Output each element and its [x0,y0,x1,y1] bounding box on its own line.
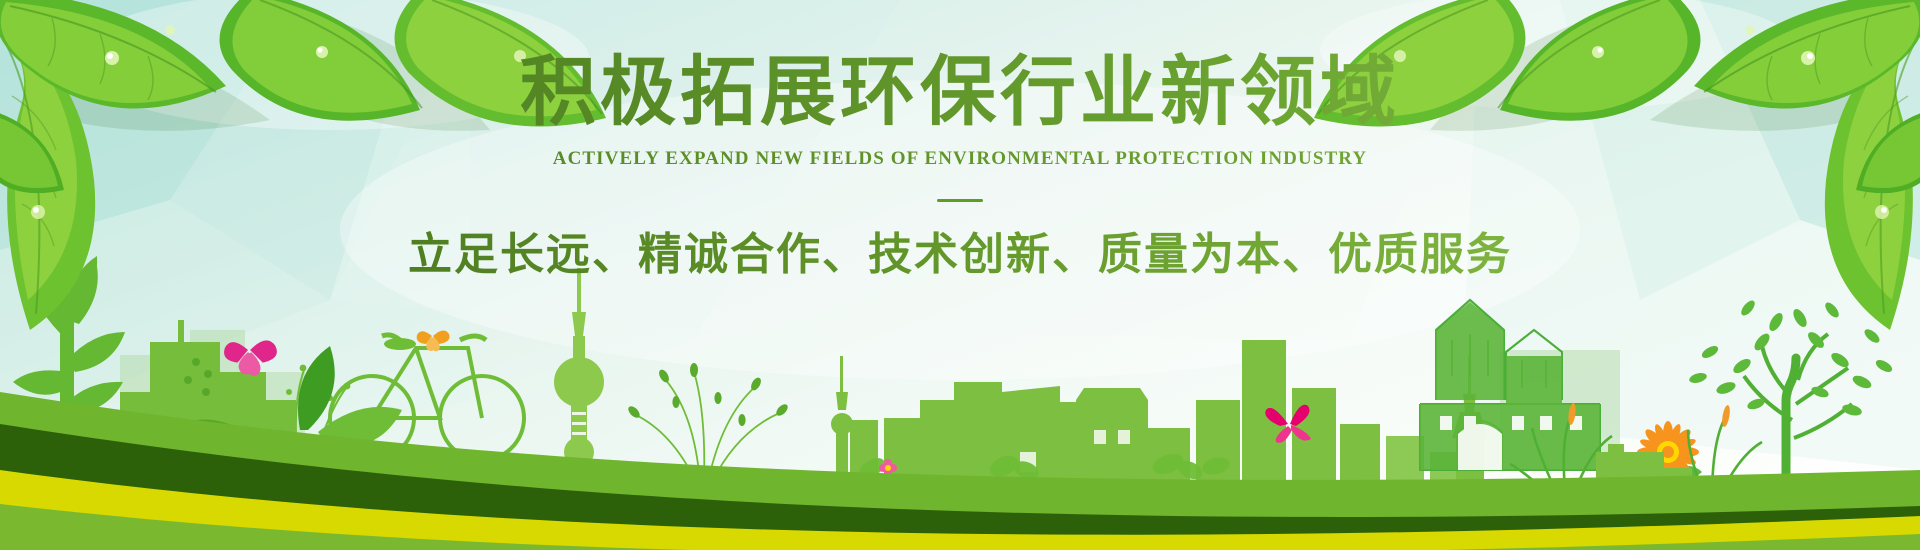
banner-text-block: 积极拓展环保行业新领域 ACTIVELY EXPAND NEW FIELDS O… [0,52,1920,282]
divider-wrapper [0,192,1920,202]
eco-banner: 积极拓展环保行业新领域 ACTIVELY EXPAND NEW FIELDS O… [0,0,1920,550]
tagline: 立足长远、精诚合作、技术创新、质量为本、优质服务 [0,218,1920,282]
page-title: 积极拓展环保行业新领域 [0,52,1920,134]
title-divider [937,199,983,202]
subtitle-english: ACTIVELY EXPAND NEW FIELDS OF ENVIRONMEN… [0,148,1920,170]
